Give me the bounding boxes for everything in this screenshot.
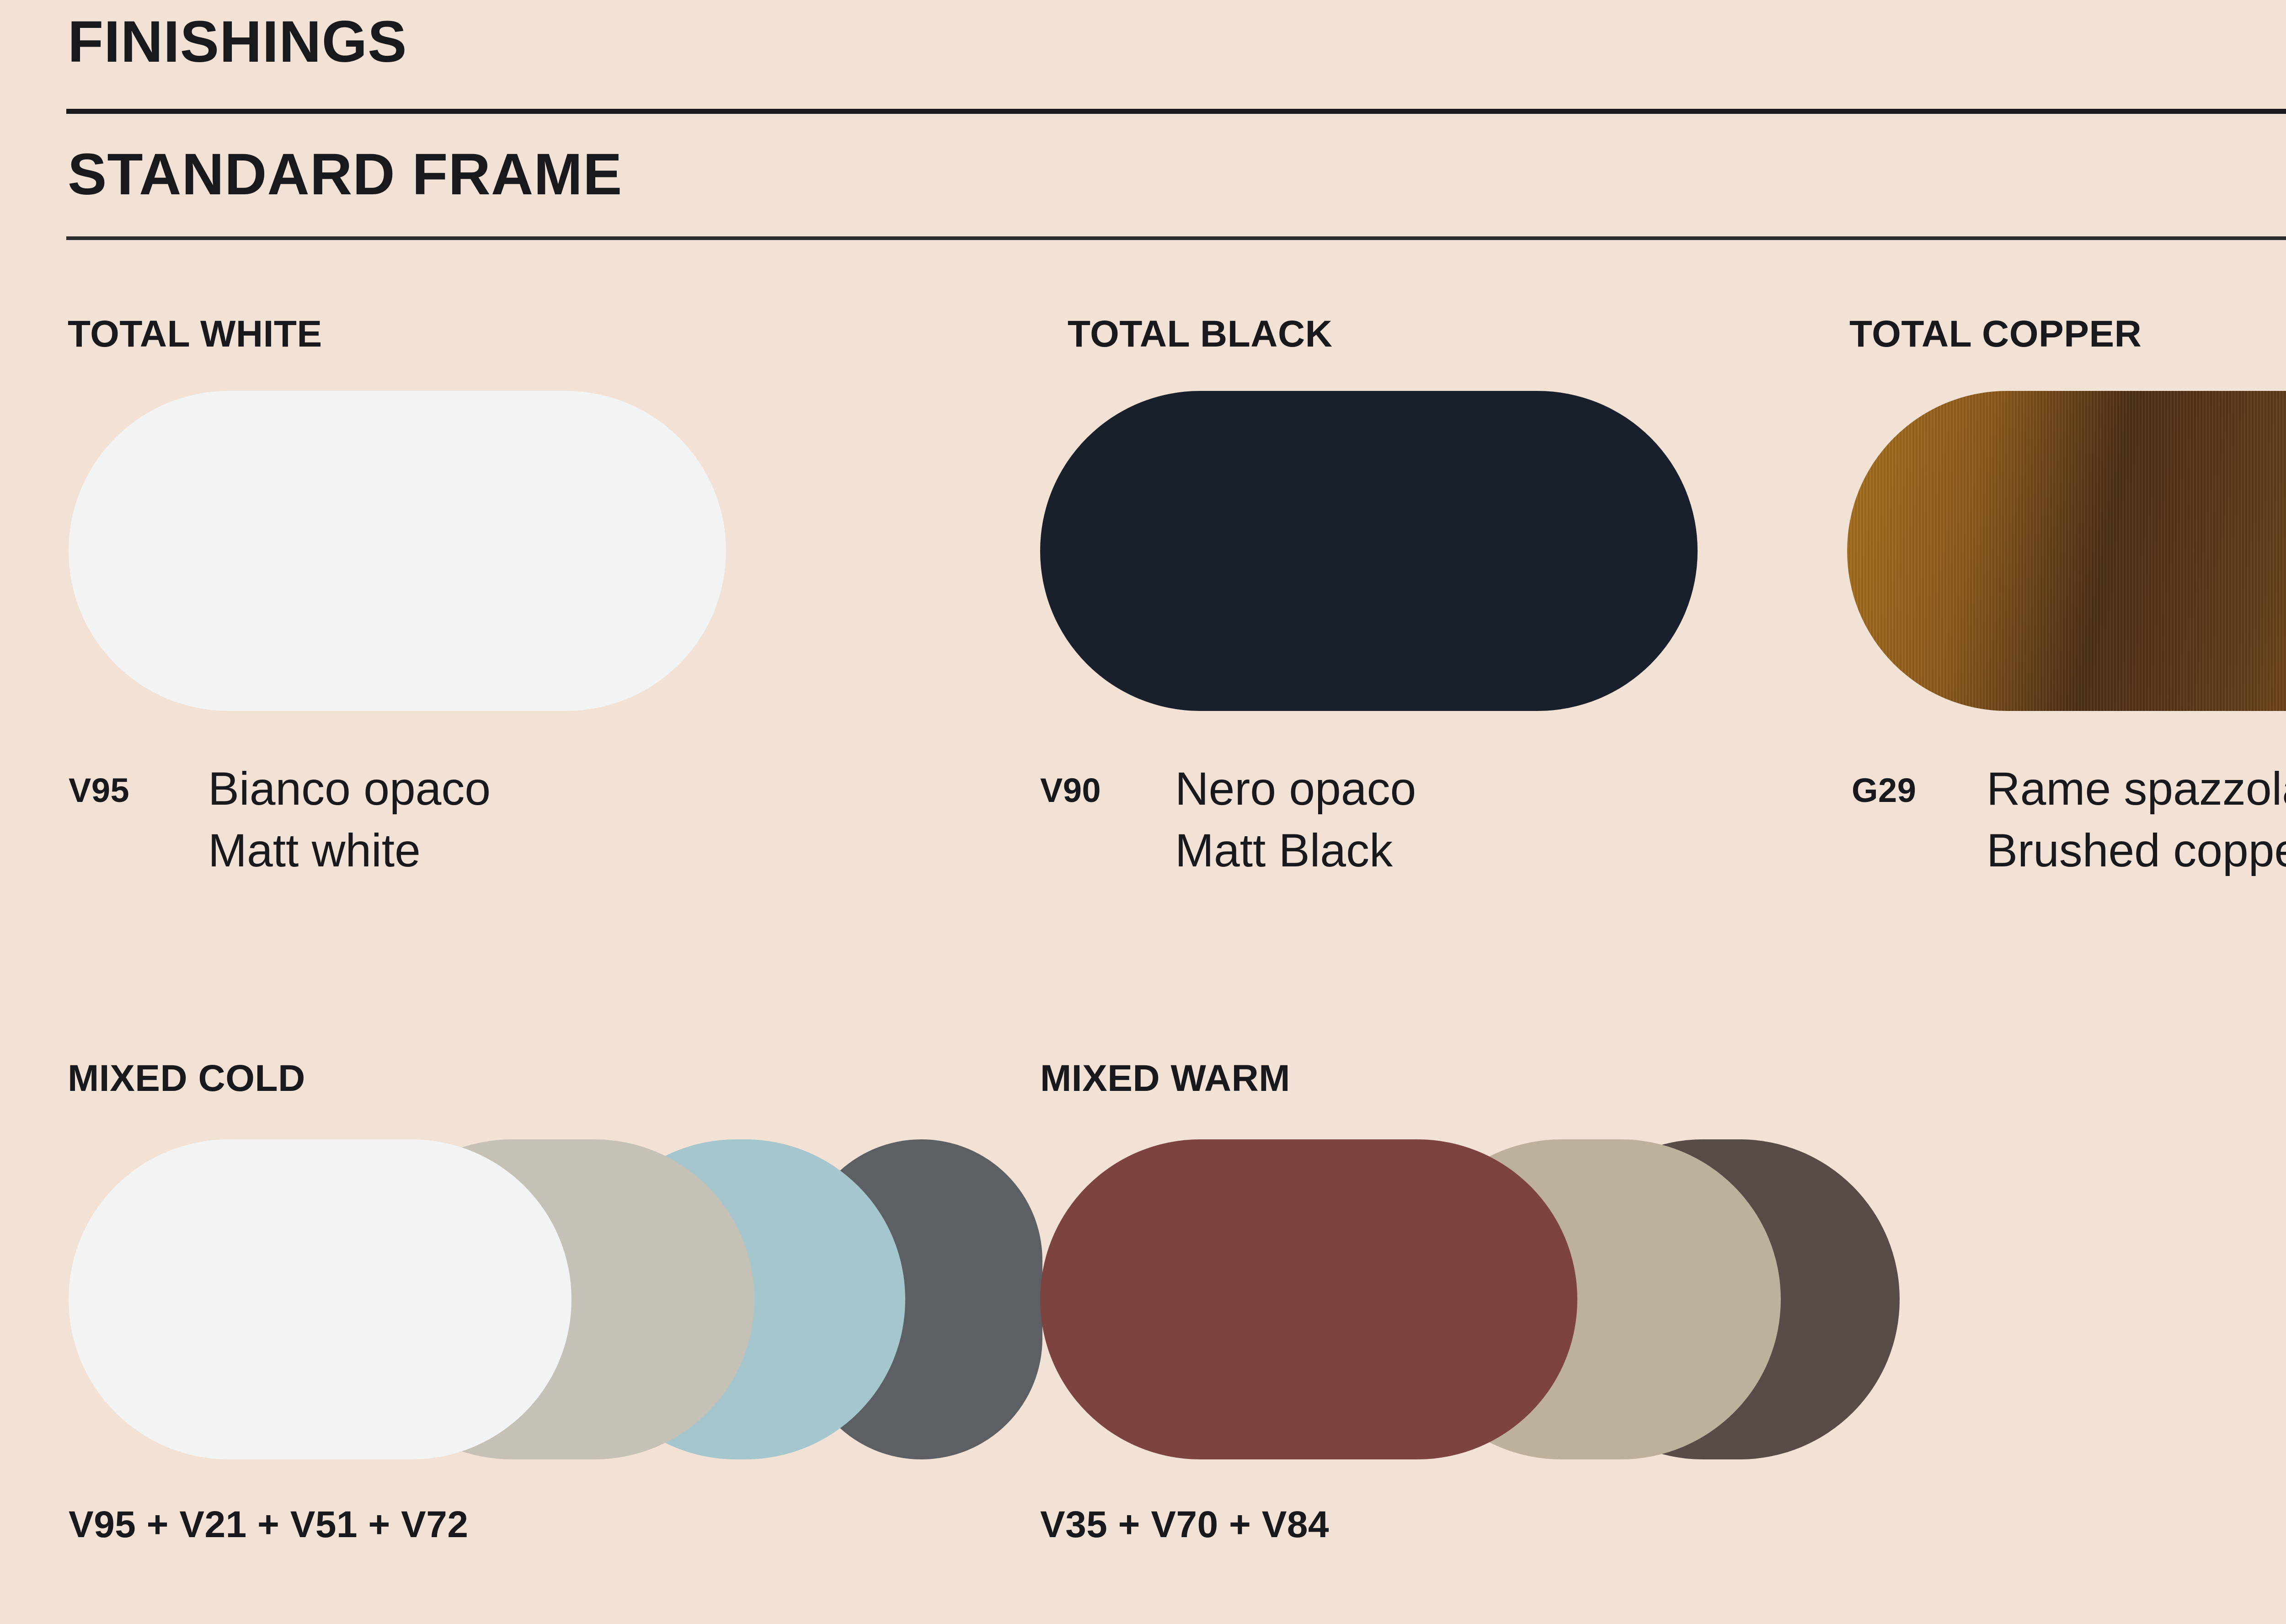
swatch-total-black[interactable] bbox=[1040, 391, 1698, 711]
group-label-mixed-cold: MIXED COLD bbox=[68, 1060, 305, 1097]
finishings-page: FINISHINGS STANDARD FRAME TOTAL WHITE V9… bbox=[0, 0, 2286, 1624]
group-label-total-white: TOTAL WHITE bbox=[68, 315, 322, 353]
swatch-total-white[interactable] bbox=[69, 391, 726, 711]
finish-code-v95: V95 bbox=[69, 774, 129, 807]
mixed-warm-codes: V35 + V70 + V84 bbox=[1040, 1506, 1329, 1544]
finish-name-en: Brushed copper bbox=[1987, 820, 2286, 881]
page-title: FINISHINGS bbox=[68, 13, 407, 71]
divider-secondary bbox=[66, 236, 2286, 240]
finish-name-it: Nero opaco bbox=[1175, 758, 1416, 820]
subsection-title: STANDARD FRAME bbox=[68, 145, 622, 204]
finish-code-v90: V90 bbox=[1040, 774, 1101, 807]
swatch-v35 bbox=[1040, 1139, 1577, 1459]
swatch-v95 bbox=[69, 1139, 571, 1459]
swatch-total-copper[interactable] bbox=[1847, 391, 2286, 711]
finish-code-g29: G29 bbox=[1852, 774, 1916, 807]
swatch-stack-mixed-cold[interactable] bbox=[69, 1139, 978, 1459]
group-label-total-copper: TOTAL COPPER bbox=[1849, 315, 2142, 353]
mixed-cold-codes: V95 + V21 + V51 + V72 bbox=[69, 1506, 468, 1544]
finish-name-it: Rame spazzolato bbox=[1987, 758, 2286, 820]
finish-name-total-copper: Rame spazzolato Brushed copper bbox=[1987, 758, 2286, 881]
finish-name-it: Bianco opaco bbox=[208, 758, 491, 820]
group-label-total-black: TOTAL BLACK bbox=[1068, 315, 1332, 353]
divider-primary bbox=[66, 109, 2286, 114]
finish-name-total-black: Nero opaco Matt Black bbox=[1175, 758, 1416, 881]
finish-name-en: Matt white bbox=[208, 820, 491, 881]
group-label-mixed-warm: MIXED WARM bbox=[1040, 1060, 1290, 1097]
finish-name-total-white: Bianco opaco Matt white bbox=[208, 758, 491, 881]
finish-name-en: Matt Black bbox=[1175, 820, 1416, 881]
swatch-stack-mixed-warm[interactable] bbox=[1040, 1139, 1781, 1459]
